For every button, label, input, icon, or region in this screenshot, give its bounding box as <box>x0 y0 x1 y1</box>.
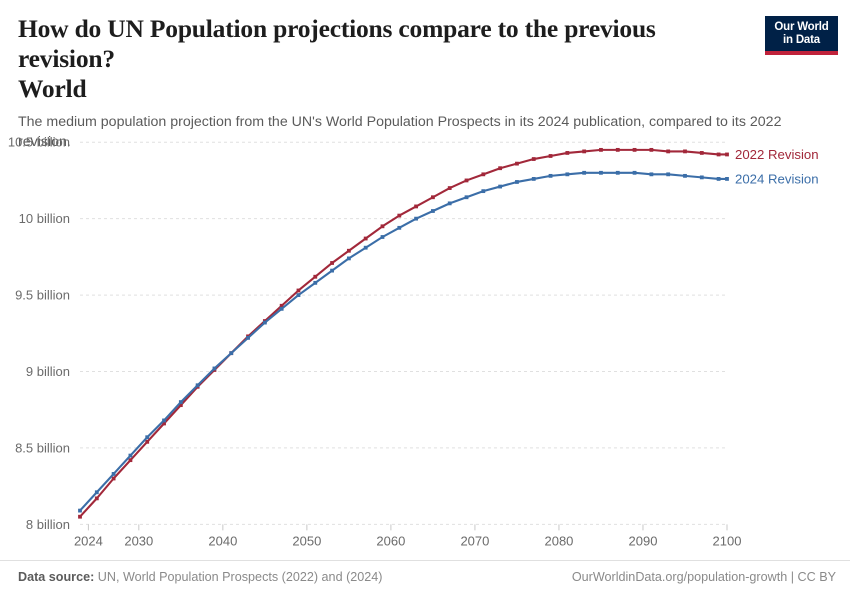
data-point-marker[interactable] <box>397 214 401 218</box>
series-2 <box>78 171 729 513</box>
data-point-marker[interactable] <box>582 171 586 175</box>
data-point-marker[interactable] <box>498 166 502 170</box>
data-point-marker[interactable] <box>330 269 334 273</box>
data-point-marker[interactable] <box>549 154 553 158</box>
data-point-marker[interactable] <box>112 477 116 481</box>
data-point-marker[interactable] <box>145 435 149 439</box>
data-point-marker[interactable] <box>515 162 519 166</box>
y-axis-tick-label: 10 billion <box>19 211 70 226</box>
x-axis-tick-label: 2080 <box>544 533 573 548</box>
footer-source: Data source: UN, World Population Prospe… <box>18 570 382 584</box>
series-legend-label[interactable]: 2022 Revision <box>735 147 819 162</box>
x-axis-tick-label: 2024 <box>74 533 103 548</box>
footer-attribution[interactable]: OurWorldinData.org/population-growth | C… <box>572 570 836 584</box>
data-point-marker[interactable] <box>297 293 301 297</box>
data-point-marker[interactable] <box>717 177 721 181</box>
data-point-marker[interactable] <box>129 454 133 458</box>
x-axis-tick-label: 2090 <box>629 533 658 548</box>
data-point-marker[interactable] <box>381 235 385 239</box>
data-point-marker[interactable] <box>649 148 653 152</box>
owid-logo-line1: Our World <box>769 21 834 34</box>
data-point-marker[interactable] <box>666 150 670 154</box>
data-point-marker[interactable] <box>364 237 368 241</box>
data-point-marker[interactable] <box>246 336 250 340</box>
y-axis-tick-label: 9.5 billion <box>15 288 70 303</box>
data-point-marker[interactable] <box>297 289 301 293</box>
data-point-marker[interactable] <box>129 458 133 462</box>
data-point-marker[interactable] <box>280 307 284 311</box>
data-point-marker[interactable] <box>465 179 469 183</box>
x-axis-tick-label: 2050 <box>292 533 321 548</box>
series-line[interactable] <box>80 150 727 517</box>
data-point-marker[interactable] <box>78 509 82 513</box>
data-point-marker[interactable] <box>616 148 620 152</box>
x-axis-ticks <box>88 524 727 530</box>
x-axis-tick-label: 2030 <box>124 533 153 548</box>
data-point-marker[interactable] <box>481 189 485 193</box>
data-point-marker[interactable] <box>145 440 149 444</box>
line-chart-svg: 8 billion8.5 billion9 billion9.5 billion… <box>0 118 850 558</box>
data-point-marker[interactable] <box>532 157 536 161</box>
y-axis-tick-label: 8 billion <box>26 517 70 532</box>
data-point-marker[interactable] <box>725 177 729 181</box>
data-point-marker[interactable] <box>565 172 569 176</box>
data-point-marker[interactable] <box>263 321 267 325</box>
data-point-marker[interactable] <box>532 177 536 181</box>
data-point-marker[interactable] <box>347 249 351 253</box>
data-series-group <box>78 148 729 519</box>
data-point-marker[interactable] <box>330 261 334 265</box>
data-point-marker[interactable] <box>649 172 653 176</box>
data-point-marker[interactable] <box>465 195 469 199</box>
data-point-marker[interactable] <box>616 171 620 175</box>
data-point-marker[interactable] <box>381 224 385 228</box>
data-point-marker[interactable] <box>599 171 603 175</box>
data-point-marker[interactable] <box>633 171 637 175</box>
data-point-marker[interactable] <box>95 490 99 494</box>
data-point-marker[interactable] <box>229 351 233 355</box>
x-axis-labels: 202420302040205020602070208020902100 <box>74 533 742 548</box>
data-point-marker[interactable] <box>347 257 351 261</box>
data-point-marker[interactable] <box>448 186 452 190</box>
data-point-marker[interactable] <box>717 153 721 157</box>
data-point-marker[interactable] <box>633 148 637 152</box>
data-point-marker[interactable] <box>397 226 401 230</box>
data-point-marker[interactable] <box>78 515 82 519</box>
chart-title-line1: How do UN Population projections compare… <box>18 14 656 73</box>
series-line[interactable] <box>80 173 727 511</box>
data-point-marker[interactable] <box>112 472 116 476</box>
x-axis-tick-label: 2060 <box>376 533 405 548</box>
data-point-marker[interactable] <box>700 175 704 179</box>
plot-area: 8 billion8.5 billion9 billion9.5 billion… <box>0 118 850 558</box>
y-axis-labels: 8 billion8.5 billion9 billion9.5 billion… <box>8 135 70 532</box>
data-point-marker[interactable] <box>213 367 217 371</box>
x-axis-tick-label: 2040 <box>208 533 237 548</box>
data-point-marker[interactable] <box>683 150 687 154</box>
series-legend-label[interactable]: 2024 Revision <box>735 171 819 186</box>
data-point-marker[interactable] <box>313 281 317 285</box>
x-axis-tick-label: 2100 <box>713 533 742 548</box>
footer-source-label: Data source: <box>18 570 94 584</box>
footer-source-text: UN, World Population Prospects (2022) an… <box>98 570 383 584</box>
data-point-marker[interactable] <box>95 496 99 500</box>
data-point-marker[interactable] <box>162 419 166 423</box>
y-axis-tick-label: 8.5 billion <box>15 440 70 455</box>
data-point-marker[interactable] <box>364 246 368 250</box>
page-title: How do UN Population projections compare… <box>18 14 758 104</box>
data-point-marker[interactable] <box>448 201 452 205</box>
data-point-marker[interactable] <box>179 400 183 404</box>
data-point-marker[interactable] <box>700 151 704 155</box>
owid-logo-line2: in Data <box>769 34 834 47</box>
data-point-marker[interactable] <box>599 148 603 152</box>
data-point-marker[interactable] <box>313 275 317 279</box>
data-point-marker[interactable] <box>431 195 435 199</box>
data-point-marker[interactable] <box>196 383 200 387</box>
grid-lines <box>80 142 727 524</box>
y-axis-tick-label: 10.5 billion <box>8 135 70 150</box>
x-axis-tick-label: 2070 <box>460 533 489 548</box>
data-point-marker[interactable] <box>725 153 729 157</box>
data-point-marker[interactable] <box>565 151 569 155</box>
chart-title-line2: World <box>18 74 86 103</box>
chart-footer: Data source: UN, World Population Prospe… <box>0 560 850 600</box>
data-point-marker[interactable] <box>549 174 553 178</box>
data-point-marker[interactable] <box>515 180 519 184</box>
chart-root: How do UN Population projections compare… <box>0 0 850 600</box>
series-annotations: 2022 Revision2024 Revision <box>735 147 819 186</box>
data-point-marker[interactable] <box>582 150 586 154</box>
owid-logo[interactable]: Our World in Data <box>765 16 838 55</box>
data-point-marker[interactable] <box>683 174 687 178</box>
data-point-marker[interactable] <box>414 217 418 221</box>
data-point-marker[interactable] <box>414 205 418 209</box>
y-axis-tick-label: 9 billion <box>26 364 70 379</box>
data-point-marker[interactable] <box>481 172 485 176</box>
series-1 <box>78 148 729 519</box>
data-point-marker[interactable] <box>666 172 670 176</box>
data-point-marker[interactable] <box>498 185 502 189</box>
data-point-marker[interactable] <box>431 209 435 213</box>
